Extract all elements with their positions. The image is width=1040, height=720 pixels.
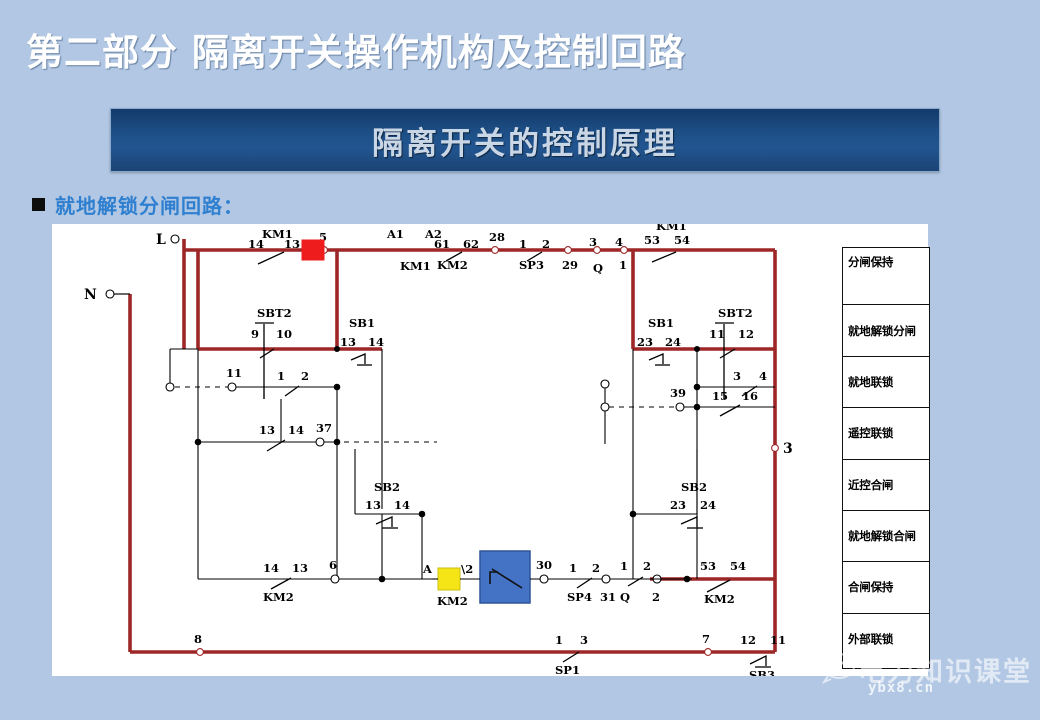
symbol-km2-contact-bottom	[271, 578, 291, 589]
label-3-right: 3	[733, 369, 741, 383]
junction-34	[694, 384, 701, 391]
label-61: 61	[434, 237, 450, 251]
legend-label: 就地解锁合闸	[848, 528, 916, 544]
node-q3	[594, 247, 601, 254]
label-54: 54	[674, 233, 690, 247]
label-10: 10	[276, 327, 292, 341]
label-sp1-1: 1	[555, 633, 563, 647]
terminal-11	[228, 383, 236, 391]
label-sp3-1: 1	[519, 237, 527, 251]
node-31	[602, 575, 610, 583]
label-sb2-14: 14	[394, 498, 410, 512]
label-SP3: SP3	[519, 258, 544, 272]
symbol-sb3	[750, 656, 766, 666]
node-3-trunk	[772, 445, 779, 452]
label-15: 15	[712, 389, 728, 403]
label-8: 8	[194, 632, 202, 646]
label-SP1: SP1	[555, 663, 580, 676]
junction-1314-left	[195, 439, 202, 446]
terminal-L	[171, 235, 179, 243]
km2-coil-block	[438, 568, 460, 590]
circuit-diagram-panel: .rw{stroke:#9d2727;stroke-width:3.6;fill…	[52, 224, 928, 676]
node-28	[492, 247, 499, 254]
label-sp4-1: 1	[569, 561, 577, 575]
label-sb3-11: 11	[770, 633, 786, 647]
label-SBT2-left: SBT2	[257, 306, 292, 320]
node-8	[197, 649, 204, 656]
label-sb1-14: 14	[368, 335, 384, 349]
km1-coil-block	[302, 240, 324, 260]
bullet-square-icon	[32, 198, 45, 211]
label-11-left: 11	[226, 366, 242, 380]
label-13-mid: 13	[259, 423, 275, 437]
label-q-2b: 2	[643, 559, 651, 573]
bullet-row: 就地解锁分闸回路：	[32, 190, 244, 219]
label-Q-top: Q	[593, 261, 603, 275]
terminal-ext-b	[601, 403, 609, 411]
terminal-39	[676, 403, 684, 411]
label-sb3-12: 12	[740, 633, 756, 647]
symbol-km1-contact-right	[652, 252, 676, 262]
label-km2-14: 14	[263, 561, 279, 575]
symbol-sb1-right	[649, 354, 663, 364]
legend-box: 分闸保持 就地解锁分闸 就地联锁 遥控联锁 近控合闸 就地解锁合闸 合闸保持 外…	[842, 247, 930, 669]
legend-row[interactable]: 合闸保持	[843, 562, 929, 613]
legend-label: 分闸保持	[848, 254, 893, 270]
label-km2-top: KM2	[437, 258, 468, 272]
label-SB3: SB3	[749, 668, 775, 676]
label-4-right: 4	[759, 369, 767, 383]
label-29: 29	[562, 258, 578, 272]
terminal-ext-a	[601, 380, 609, 388]
label-sb1-23: 23	[637, 335, 653, 349]
label-7: 7	[702, 632, 710, 646]
label-39: 39	[670, 386, 686, 400]
label-q-1b: 1	[620, 559, 628, 573]
legend-row[interactable]: 就地解锁分闸	[843, 305, 929, 356]
junction-sb2-right	[630, 511, 637, 518]
label-sb2-13: 13	[365, 498, 381, 512]
label-SB1-right: SB1	[648, 316, 674, 330]
label-km1-right: KM1	[656, 224, 687, 233]
label-11: 11	[709, 327, 725, 341]
label-N: N	[84, 287, 97, 303]
label-L: L	[156, 232, 166, 248]
label-sp1-3: 3	[580, 633, 588, 647]
label-km2-53: 53	[700, 559, 716, 573]
legend-label: 就地联锁	[848, 374, 893, 390]
label-sb2-23: 23	[670, 498, 686, 512]
label-KM2-coil: KM2	[437, 594, 468, 608]
terminal-N	[106, 290, 114, 298]
label-28: 28	[489, 230, 505, 244]
label-3-trunk: 3	[783, 441, 793, 457]
banner-title: 隔离开关的控制原理	[372, 118, 678, 163]
legend-row[interactable]: 外部联锁	[843, 614, 929, 668]
symbol-sb2-right	[681, 517, 697, 527]
legend-row[interactable]: 遥控联锁	[843, 408, 929, 459]
symbol-sb2-left	[376, 517, 392, 527]
label-A-km2-text: A	[422, 562, 433, 576]
symbol-km2-contact-53-54	[707, 580, 730, 592]
circuit-schematic: .rw{stroke:#9d2727;stroke-width:3.6;fill…	[52, 224, 928, 676]
label-km1-14: 14	[248, 237, 264, 251]
label-12: 12	[738, 327, 754, 341]
label-KM2-bottom: KM2	[263, 590, 294, 604]
watermark-url: ybx8.cn	[868, 680, 934, 696]
legend-row[interactable]: 近控合闸	[843, 460, 929, 511]
junction-1516	[694, 404, 701, 411]
label-SB1-left: SB1	[349, 316, 375, 330]
label-SP4: SP4	[567, 590, 592, 604]
symbol-sb1-left	[351, 354, 365, 364]
label-SB2-right: SB2	[681, 480, 707, 494]
label-sb2-24: 24	[700, 498, 716, 512]
terminal-37	[316, 438, 324, 446]
label-KM2-53-54: KM2	[704, 592, 735, 606]
section-banner: 隔离开关的控制原理	[110, 108, 940, 172]
legend-label: 近控合闸	[848, 477, 893, 493]
node-7	[705, 649, 712, 656]
symbol-q-contact-bottom	[628, 577, 643, 586]
bullet-label: 就地解锁分闸回路：	[55, 190, 244, 219]
label-km1-13: 13	[284, 237, 300, 251]
label-SBT2-right: SBT2	[718, 306, 753, 320]
label-km1-coil: KM1	[400, 259, 431, 273]
label-31: 31	[600, 590, 616, 604]
label-14-mid: 14	[288, 423, 304, 437]
symbol-km1-contact-top	[258, 252, 284, 264]
label-1-q: 1	[619, 258, 627, 272]
junction-km2-53	[684, 576, 691, 583]
node-6	[331, 575, 339, 583]
node-30	[540, 575, 548, 583]
label-sp4-2: 2	[592, 561, 600, 575]
junction-sb1-left	[334, 346, 340, 352]
label-sb1-13: 13	[340, 335, 356, 349]
label-sp3-2: 2	[542, 237, 550, 251]
label-1-left: 1	[277, 369, 285, 383]
legend-label: 外部联锁	[848, 631, 893, 647]
legend-row[interactable]: 分闸保持	[843, 248, 929, 305]
label-62: 62	[463, 237, 479, 251]
node-q4	[621, 247, 628, 254]
terminal-left-hook	[166, 383, 174, 391]
label-6: 6	[329, 558, 337, 572]
label-A1: A1	[386, 227, 404, 241]
slide-heading: 第二部分 隔离开关操作机构及控制回路	[26, 22, 906, 78]
label-9: 9	[251, 327, 259, 341]
label-km2-13: 13	[292, 561, 308, 575]
legend-row[interactable]: 就地联锁	[843, 357, 929, 408]
legend-label: 遥控联锁	[848, 425, 893, 441]
label-2-bottom: 2	[652, 590, 660, 604]
label-A2-km2-text: \2	[461, 562, 473, 576]
label-sb1-24: 24	[665, 335, 681, 349]
label-16: 16	[742, 389, 758, 403]
label-30: 30	[536, 558, 552, 572]
label-37: 37	[316, 421, 332, 435]
legend-label: 合闸保持	[848, 579, 893, 595]
label-km2-54: 54	[730, 559, 746, 573]
legend-row[interactable]: 就地解锁合闸	[843, 511, 929, 562]
label-2-left: 2	[301, 369, 309, 383]
junction-sb2-left	[419, 511, 426, 518]
node-29	[565, 247, 572, 254]
legend-label: 就地解锁分闸	[848, 323, 916, 339]
label-53: 53	[644, 233, 660, 247]
label-Q-bottom: Q	[620, 590, 630, 604]
label-SB2-left: SB2	[374, 480, 400, 494]
